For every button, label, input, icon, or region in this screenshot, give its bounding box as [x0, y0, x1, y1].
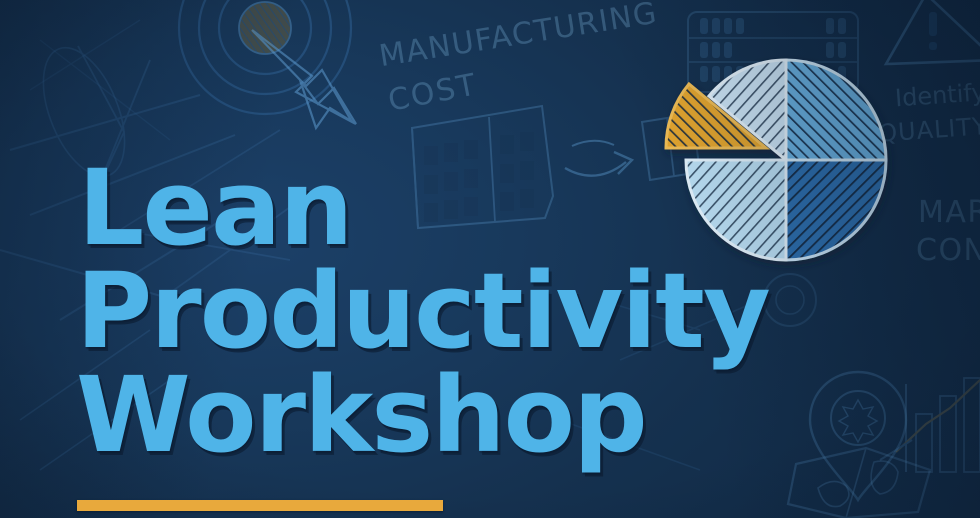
page-title: Lean Productivity Workshop [76, 158, 906, 466]
title-line-2: Productivity [76, 261, 906, 362]
poster-canvas: MANUFACTURING COST [0, 0, 980, 518]
pie-slice-value-add [786, 60, 886, 160]
title-line-1: Lean [78, 158, 906, 259]
title-line-3: Workshop [76, 365, 906, 466]
accent-underline-bar [77, 500, 443, 511]
